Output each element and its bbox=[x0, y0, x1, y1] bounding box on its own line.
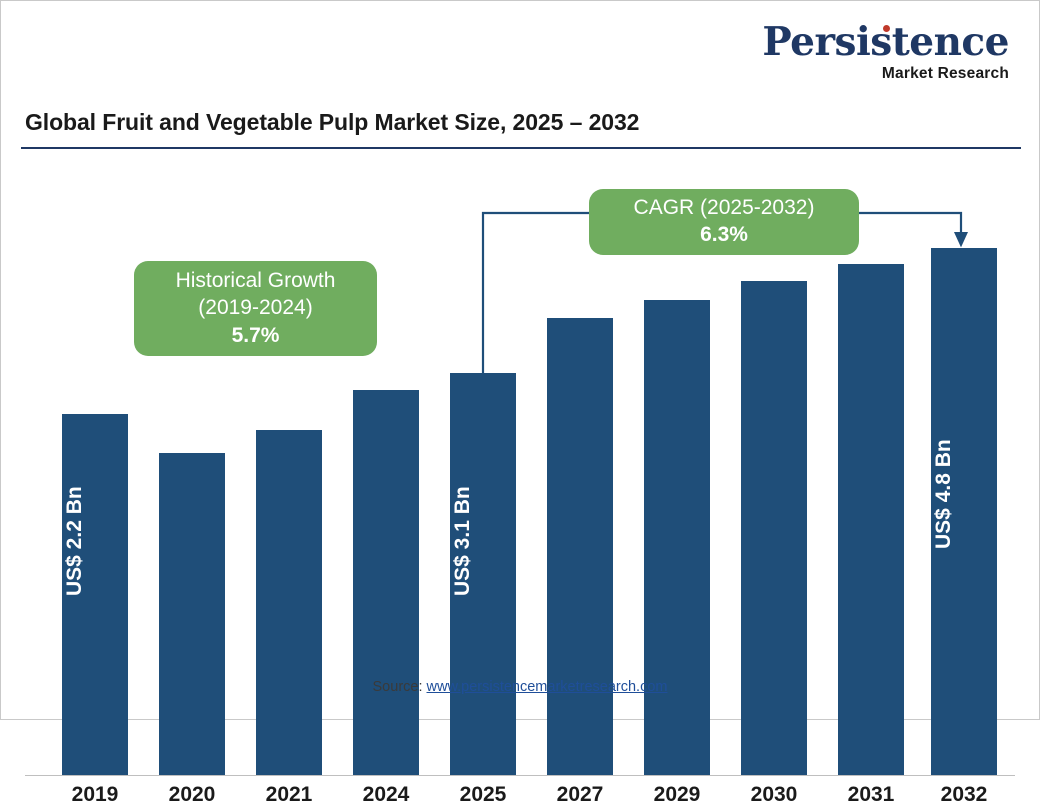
cagr-value: 6.3% bbox=[700, 221, 748, 249]
cagr-callout: CAGR (2025-2032) 6.3% bbox=[589, 189, 859, 255]
logo-tagline: Market Research bbox=[762, 66, 1009, 82]
bar-2021 bbox=[256, 430, 322, 775]
x-tick-2032: 2032 bbox=[919, 783, 1009, 807]
x-tick-2019: 2019 bbox=[50, 783, 140, 807]
bar-2031 bbox=[838, 264, 904, 775]
bar-label-2032: US$ 4.8 Bn bbox=[932, 439, 956, 549]
x-tick-2027: 2027 bbox=[535, 783, 625, 807]
page-title: Global Fruit and Vegetable Pulp Market S… bbox=[25, 109, 639, 136]
historical-growth-line1: Historical Growth bbox=[176, 267, 336, 294]
cagr-line1: CAGR (2025-2032) bbox=[634, 194, 815, 221]
bar-2024 bbox=[353, 390, 419, 775]
title-divider bbox=[21, 147, 1021, 149]
bar-2020 bbox=[159, 453, 225, 775]
historical-growth-value: 5.7% bbox=[232, 322, 280, 350]
bar-label-2025: US$ 3.1 Bn bbox=[451, 486, 475, 596]
bar-2027 bbox=[547, 318, 613, 775]
x-tick-2021: 2021 bbox=[244, 783, 334, 807]
x-tick-2024: 2024 bbox=[341, 783, 431, 807]
source-link[interactable]: www.persistencemarketresearch.com bbox=[427, 679, 668, 695]
historical-growth-line2: (2019-2024) bbox=[198, 294, 312, 321]
historical-growth-callout: Historical Growth (2019-2024) 5.7% bbox=[134, 261, 377, 356]
bar-chart: US$ 2.2 Bn US$ 3.1 Bn US$ 4.8 Bn 2019 20… bbox=[1, 151, 1040, 671]
x-tick-2025: 2025 bbox=[438, 783, 528, 807]
bar-label-2019: US$ 2.2 Bn bbox=[63, 486, 87, 596]
x-tick-2031: 2031 bbox=[826, 783, 916, 807]
logo-wordmark: Persistence bbox=[762, 23, 1009, 62]
x-tick-2029: 2029 bbox=[632, 783, 722, 807]
x-tick-2030: 2030 bbox=[729, 783, 819, 807]
x-axis-line bbox=[25, 775, 1015, 776]
infographic-page: Persistence Market Research Global Fruit… bbox=[0, 0, 1040, 720]
bar-2030 bbox=[741, 281, 807, 775]
logo: Persistence Market Research bbox=[762, 23, 1009, 82]
source-prefix: Source: bbox=[373, 679, 427, 695]
x-tick-2020: 2020 bbox=[147, 783, 237, 807]
source-note: Source: www.persistencemarketresearch.co… bbox=[1, 679, 1039, 695]
bar-2029 bbox=[644, 300, 710, 775]
